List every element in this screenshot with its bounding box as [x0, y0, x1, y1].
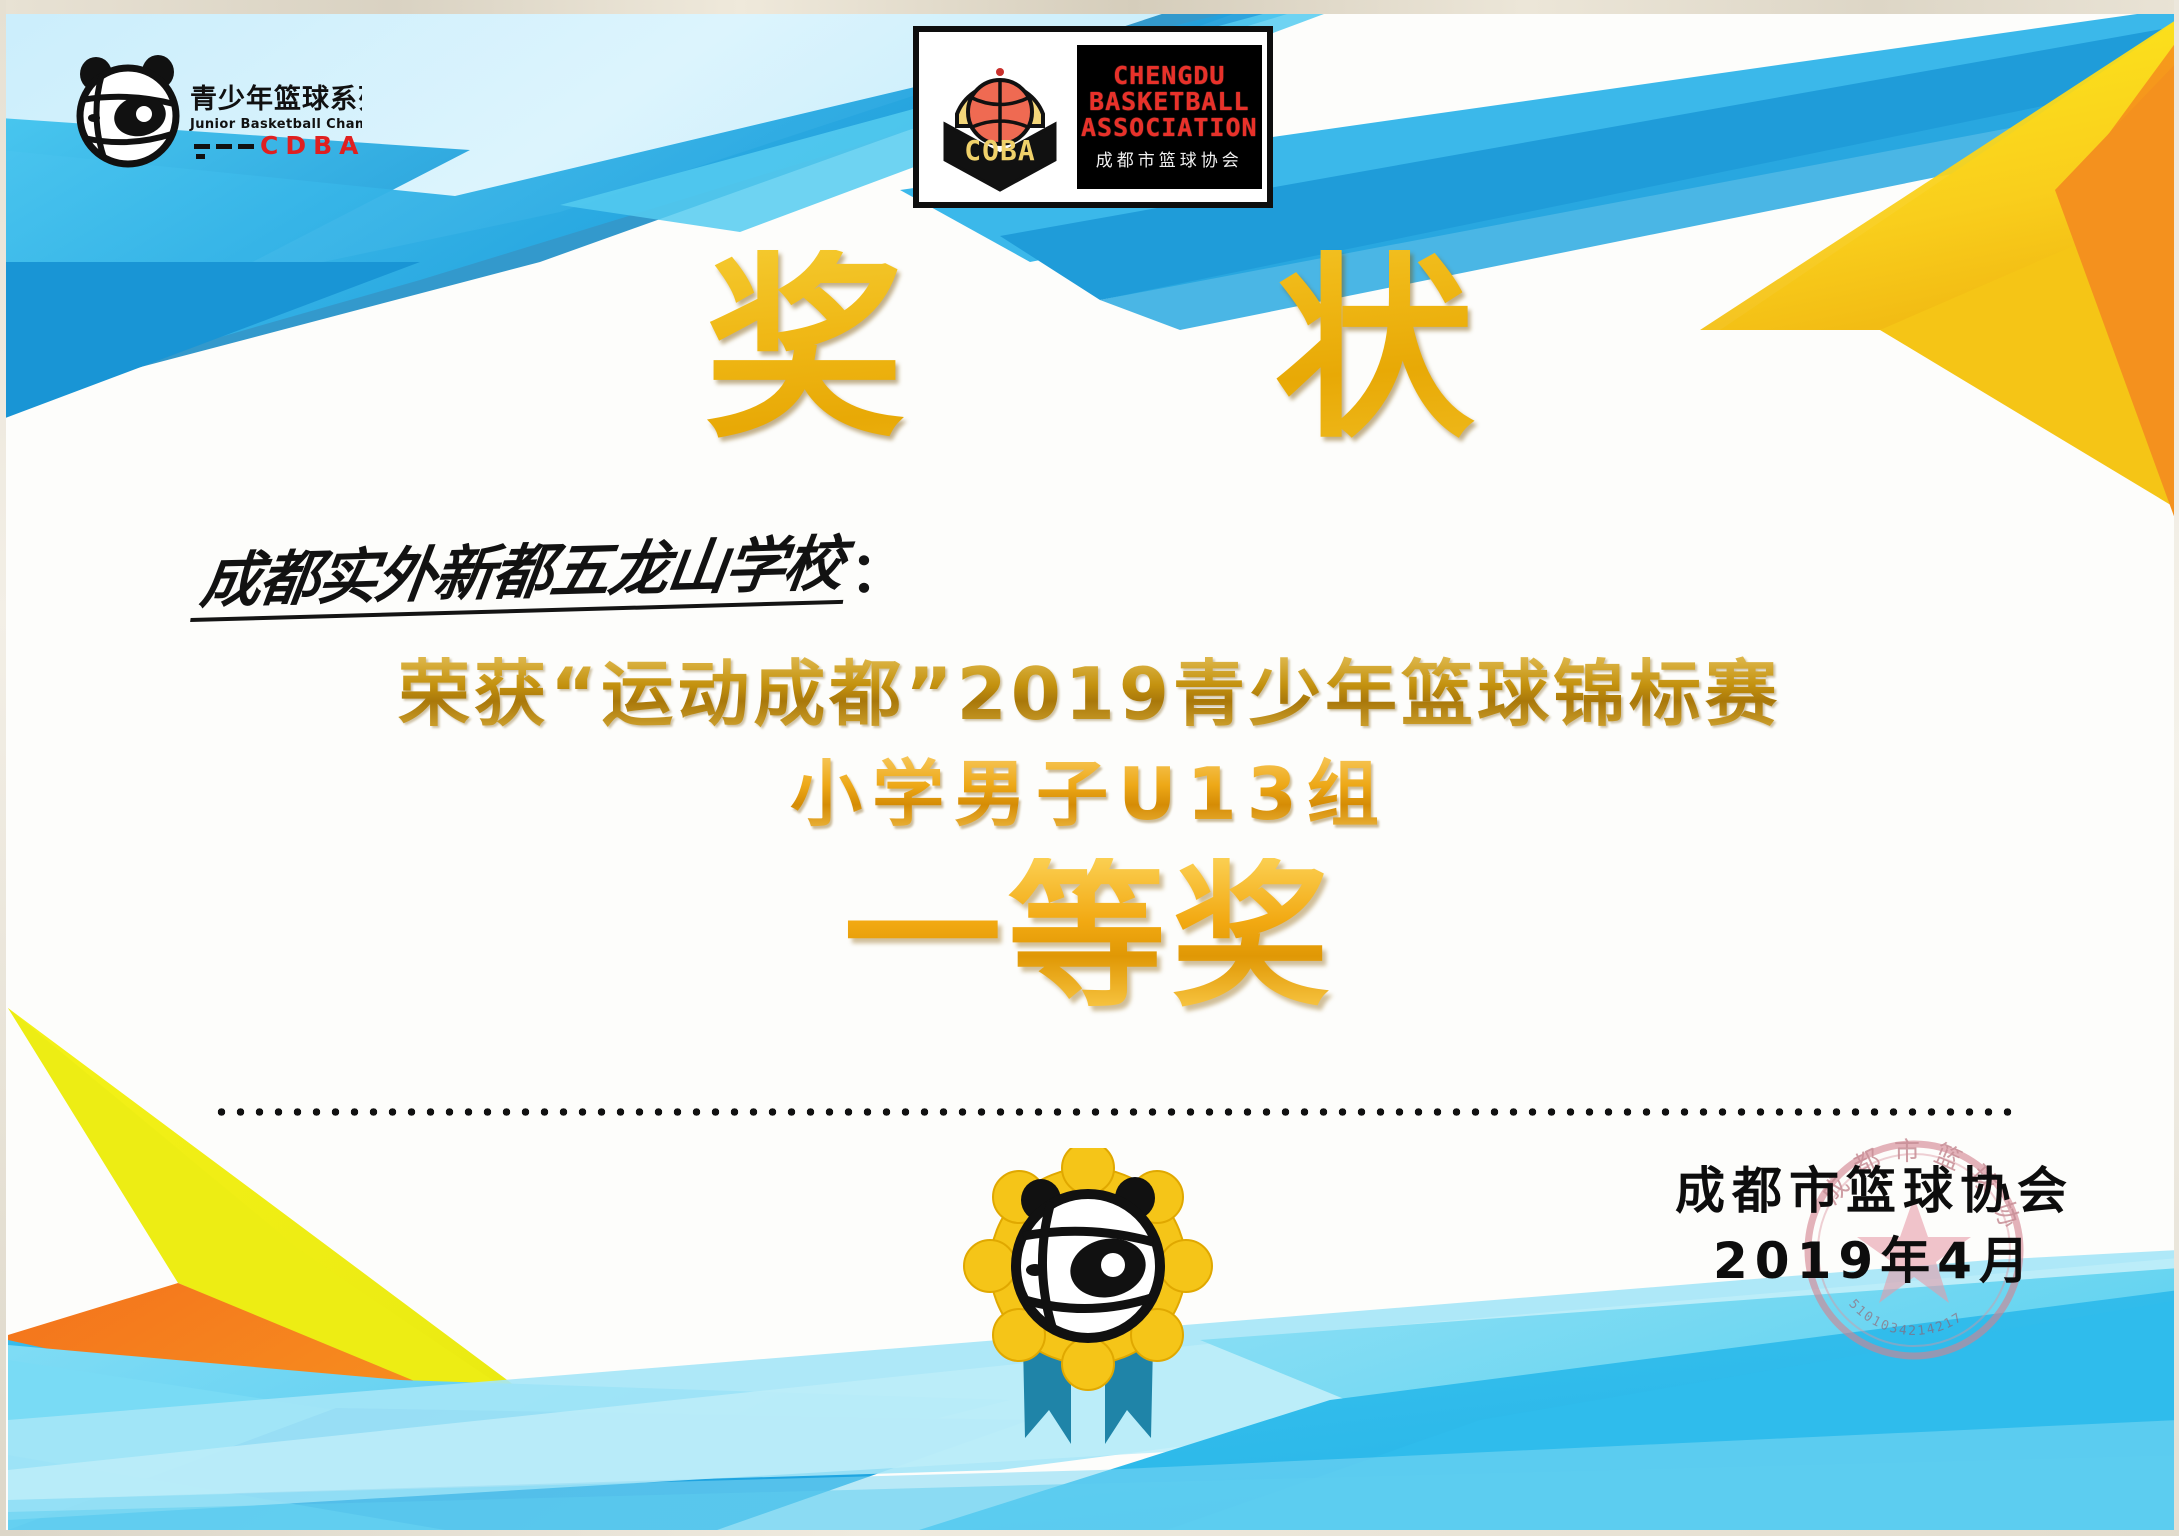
panda-basketball-icon: 青少年篮球系列赛 Junior Basketball Championship … — [72, 52, 362, 172]
signature-block: 成都市篮球协会 2019年4月 — [1675, 1160, 2074, 1294]
coba-text-panel: CHENGDU BASKETBALL ASSOCIATION 成都市篮球协会 — [1077, 45, 1262, 189]
recipient-line: 成都实外新都五龙山学校 ： — [196, 528, 906, 613]
svg-text:COBA: COBA — [964, 134, 1035, 167]
citation-line-1: 荣获“运动成都”2019青少年篮球锦标赛 — [0, 648, 2179, 740]
basketball-cube-icon: COBA — [925, 42, 1075, 192]
paper-edge-top — [0, 0, 2179, 14]
dotted-divider — [212, 1108, 2012, 1116]
award-certificate: 青少年篮球系列赛 Junior Basketball Championship … — [0, 0, 2179, 1536]
svg-text:CDBA: CDBA — [260, 131, 362, 160]
citation-body: 荣获“运动成都”2019青少年篮球锦标赛 小学男子U13组 — [0, 648, 2179, 848]
recipient-colon: ： — [850, 528, 906, 613]
issuing-organization: 成都市篮球协会 — [1675, 1160, 2074, 1223]
rosette-medal — [953, 1148, 1223, 1448]
coba-line-3: ASSOCIATION — [1081, 115, 1258, 141]
cdba-logo: 青少年篮球系列赛 Junior Basketball Championship … — [72, 52, 362, 172]
coba-line-1: CHENGDU — [1113, 63, 1225, 89]
coba-line-cn: 成都市篮球协会 — [1096, 146, 1243, 171]
paper-edge-left — [0, 0, 6, 1536]
issue-date: 2019年4月 — [1675, 1229, 2074, 1294]
recipient-name: 成都实外新都五龙山学校 — [190, 534, 852, 622]
paper-edge-right — [2174, 0, 2179, 1536]
paper-edge-bottom — [0, 1530, 2179, 1536]
citation-line-2: 小学男子U13组 — [0, 740, 2179, 848]
award-level: 一等奖 — [0, 858, 2179, 1016]
panda-basketball-icon — [1016, 1177, 1160, 1338]
page-title: 奖 状 — [0, 250, 2179, 450]
svg-text:青少年篮球系列赛: 青少年篮球系列赛 — [190, 83, 362, 115]
coba-line-2: BASKETBALL — [1089, 89, 1250, 115]
svg-text:Junior Basketball Championship: Junior Basketball Championship — [189, 117, 362, 132]
coba-logo: COBA CHENGDU BASKETBALL ASSOCIATION 成都市篮… — [913, 26, 1273, 208]
